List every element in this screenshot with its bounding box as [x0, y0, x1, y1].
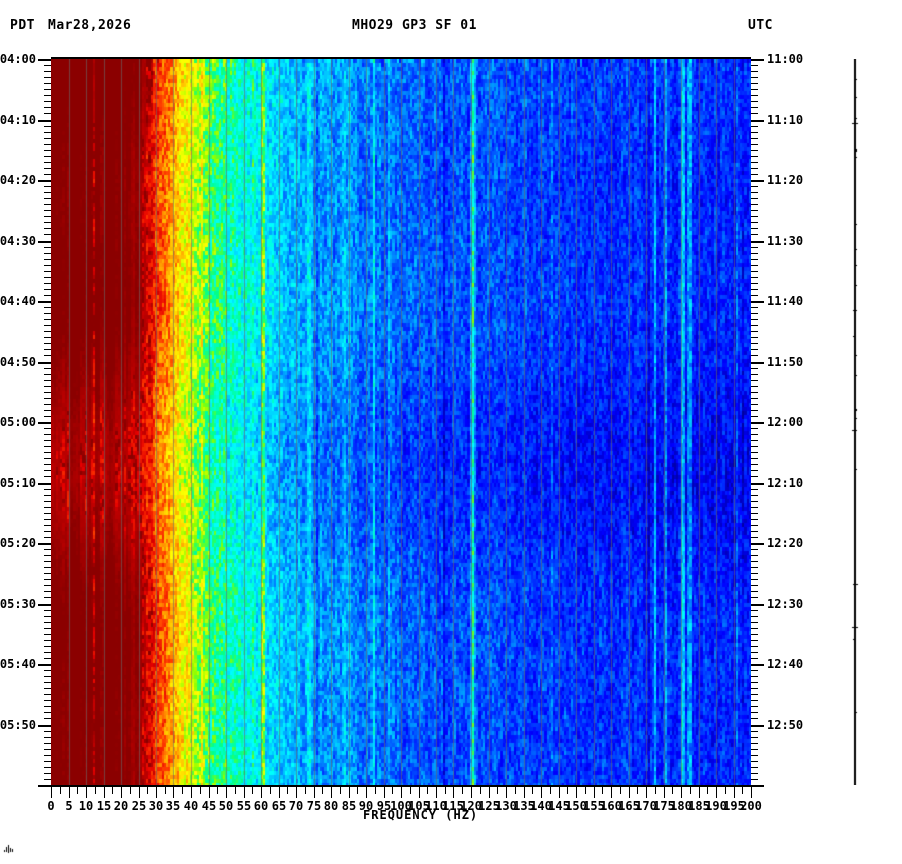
tick-major-local: [38, 483, 51, 485]
tick-minor-local: [44, 476, 51, 477]
tick-minor-utc: [751, 585, 758, 586]
tick-minor-frequency: [410, 787, 411, 794]
time-label-utc: 12:30: [767, 599, 803, 609]
tick-minor-utc: [751, 537, 758, 538]
tick-minor-utc: [751, 247, 758, 248]
tick-minor-frequency: [200, 787, 201, 794]
tick-minor-local: [44, 156, 51, 157]
tick-minor-utc: [751, 688, 758, 689]
tick-minor-local: [44, 761, 51, 762]
tick-minor-frequency: [270, 787, 271, 794]
tick-minor-utc: [751, 712, 758, 713]
tick-major-utc: [751, 180, 764, 182]
corner-waveform-glyph: [3, 843, 23, 855]
tick-minor-local: [44, 349, 51, 350]
tick-minor-local: [44, 107, 51, 108]
tick-minor-local: [44, 83, 51, 84]
tick-minor-local: [44, 694, 51, 695]
time-label-utc: 11:20: [767, 175, 803, 185]
tick-major-frequency: [681, 787, 682, 798]
tick-major-frequency: [489, 787, 490, 798]
tick-major-local: [38, 422, 51, 424]
tick-minor-utc: [751, 138, 758, 139]
time-label-local: 05:10: [0, 478, 36, 488]
tick-major-frequency: [471, 787, 472, 798]
frequency-label: 200: [740, 799, 762, 813]
tick-minor-local: [44, 198, 51, 199]
tick-minor-local: [44, 168, 51, 169]
tick-major-local: [38, 120, 51, 122]
frequency-label: 20: [114, 799, 128, 813]
tick-major-frequency: [594, 787, 595, 798]
tick-minor-utc: [751, 755, 758, 756]
tick-minor-utc: [751, 349, 758, 350]
tick-minor-local: [44, 658, 51, 659]
time-label-utc: 12:20: [767, 538, 803, 548]
tick-major-frequency: [751, 787, 752, 798]
frequency-label: 80: [324, 799, 338, 813]
tick-minor-local: [44, 507, 51, 508]
tick-major-frequency: [86, 787, 87, 798]
tick-minor-frequency: [655, 787, 656, 794]
waveform-trace-canvas: [838, 59, 872, 785]
tick-minor-local: [44, 452, 51, 453]
frequency-label: 60: [254, 799, 268, 813]
frequency-label: 5: [65, 799, 72, 813]
tick-minor-frequency: [445, 787, 446, 794]
tick-minor-utc: [751, 731, 758, 732]
tick-major-frequency: [734, 787, 735, 798]
tick-minor-utc: [751, 234, 758, 235]
tick-minor-utc: [751, 513, 758, 514]
header-timezone-utc: UTC: [748, 18, 773, 34]
tick-minor-local: [44, 289, 51, 290]
tick-minor-local: [44, 398, 51, 399]
tick-minor-local: [44, 277, 51, 278]
spectrogram-plot: [51, 59, 751, 785]
tick-minor-utc: [751, 464, 758, 465]
tick-minor-local: [44, 65, 51, 66]
tick-minor-local: [44, 101, 51, 102]
tick-major-frequency: [436, 787, 437, 798]
tick-minor-utc: [751, 89, 758, 90]
tick-major-utc: [751, 120, 764, 122]
tick-minor-local: [44, 150, 51, 151]
tick-minor-frequency: [497, 787, 498, 794]
tick-minor-utc: [751, 156, 758, 157]
tick-minor-frequency: [375, 787, 376, 794]
tick-minor-local: [44, 186, 51, 187]
tick-minor-utc: [751, 634, 758, 635]
tick-minor-local: [44, 392, 51, 393]
tick-minor-local: [44, 216, 51, 217]
tick-minor-utc: [751, 83, 758, 84]
tick-major-frequency: [314, 787, 315, 798]
tick-minor-local: [44, 386, 51, 387]
tick-minor-utc: [751, 440, 758, 441]
time-label-local: 05:20: [0, 538, 36, 548]
tick-minor-local: [44, 374, 51, 375]
tick-major-frequency: [366, 787, 367, 798]
tick-minor-local: [44, 331, 51, 332]
tick-minor-utc: [751, 289, 758, 290]
tick-major-local: [38, 241, 51, 243]
tick-minor-utc: [751, 434, 758, 435]
tick-minor-local: [44, 416, 51, 417]
tick-minor-local: [44, 144, 51, 145]
tick-minor-utc: [751, 150, 758, 151]
tick-minor-utc: [751, 259, 758, 260]
tick-minor-local: [44, 640, 51, 641]
tick-minor-frequency: [550, 787, 551, 794]
tick-minor-frequency: [340, 787, 341, 794]
tick-minor-local: [44, 343, 51, 344]
tick-minor-utc: [751, 501, 758, 502]
time-label-local: 04:30: [0, 236, 36, 246]
tick-minor-local: [44, 313, 51, 314]
tick-minor-utc: [751, 446, 758, 447]
tick-minor-local: [44, 549, 51, 550]
tick-minor-utc: [751, 374, 758, 375]
tick-minor-frequency: [620, 787, 621, 794]
tick-minor-local: [44, 634, 51, 635]
tick-major-frequency: [173, 787, 174, 798]
tick-minor-utc: [751, 452, 758, 453]
tick-minor-local: [44, 537, 51, 538]
tick-minor-local: [44, 718, 51, 719]
time-label-local: 04:40: [0, 296, 36, 306]
tick-minor-utc: [751, 749, 758, 750]
tick-minor-utc: [751, 555, 758, 556]
tick-minor-local: [44, 591, 51, 592]
header-timezone-local: PDT: [10, 18, 35, 34]
tick-minor-local: [44, 579, 51, 580]
tick-minor-utc: [751, 325, 758, 326]
frequency-label: 10: [79, 799, 93, 813]
tick-minor-utc: [751, 682, 758, 683]
tick-minor-utc: [751, 380, 758, 381]
time-label-utc: 11:40: [767, 296, 803, 306]
tick-minor-utc: [751, 519, 758, 520]
tick-minor-frequency: [77, 787, 78, 794]
tick-minor-local: [44, 700, 51, 701]
tick-minor-local: [44, 767, 51, 768]
tick-minor-utc: [751, 198, 758, 199]
tick-major-frequency: [384, 787, 385, 798]
tick-minor-utc: [751, 700, 758, 701]
tick-major-frequency: [419, 787, 420, 798]
tick-minor-frequency: [690, 787, 691, 794]
tick-minor-frequency: [480, 787, 481, 794]
tick-minor-frequency: [427, 787, 428, 794]
tick-minor-utc: [751, 694, 758, 695]
tick-minor-local: [44, 234, 51, 235]
tick-minor-utc: [751, 404, 758, 405]
tick-minor-utc: [751, 192, 758, 193]
tick-minor-utc: [751, 71, 758, 72]
time-label-local: 05:30: [0, 599, 36, 609]
tick-minor-utc: [751, 210, 758, 211]
tick-minor-local: [44, 682, 51, 683]
tick-minor-local: [44, 404, 51, 405]
tick-major-frequency: [139, 787, 140, 798]
tick-minor-utc: [751, 65, 758, 66]
tick-major-utc: [751, 483, 764, 485]
tick-minor-utc: [751, 313, 758, 314]
tick-minor-frequency: [672, 787, 673, 794]
tick-minor-utc: [751, 398, 758, 399]
tick-major-utc: [751, 664, 764, 666]
tick-minor-local: [44, 228, 51, 229]
tick-minor-utc: [751, 283, 758, 284]
tick-major-utc: [751, 785, 764, 787]
tick-minor-utc: [751, 476, 758, 477]
tick-minor-utc: [751, 767, 758, 768]
tick-minor-utc: [751, 567, 758, 568]
tick-minor-utc: [751, 489, 758, 490]
frequency-label: 45: [202, 799, 216, 813]
tick-minor-utc: [751, 95, 758, 96]
tick-minor-frequency: [602, 787, 603, 794]
tick-minor-local: [44, 428, 51, 429]
tick-major-frequency: [506, 787, 507, 798]
tick-minor-utc: [751, 271, 758, 272]
tick-minor-local: [44, 628, 51, 629]
tick-minor-local: [44, 670, 51, 671]
tick-minor-utc: [751, 531, 758, 532]
tick-major-frequency: [244, 787, 245, 798]
tick-major-frequency: [716, 787, 717, 798]
tick-minor-frequency: [147, 787, 148, 794]
tick-minor-local: [44, 192, 51, 193]
tick-major-frequency: [279, 787, 280, 798]
tick-major-local: [38, 664, 51, 666]
tick-minor-local: [44, 458, 51, 459]
frequency-axis-title: FREQUENCY (HZ): [363, 808, 478, 822]
frequency-label: 25: [132, 799, 146, 813]
tick-major-frequency: [191, 787, 192, 798]
tick-major-frequency: [209, 787, 210, 798]
tick-minor-utc: [751, 101, 758, 102]
tick-minor-utc: [751, 525, 758, 526]
tick-minor-local: [44, 773, 51, 774]
tick-minor-local: [44, 440, 51, 441]
tick-minor-utc: [751, 676, 758, 677]
tick-minor-utc: [751, 658, 758, 659]
tick-minor-local: [44, 706, 51, 707]
tick-minor-utc: [751, 622, 758, 623]
tick-minor-frequency: [532, 787, 533, 794]
tick-minor-utc: [751, 216, 758, 217]
spectrogram-page: PDT Mar28,2026 MHO29 GP3 SF 01 UTC 04:00…: [0, 0, 902, 864]
tick-minor-utc: [751, 718, 758, 719]
tick-minor-frequency: [742, 787, 743, 794]
tick-minor-local: [44, 319, 51, 320]
tick-major-frequency: [261, 787, 262, 798]
tick-minor-local: [44, 555, 51, 556]
tick-minor-utc: [751, 386, 758, 387]
tick-minor-utc: [751, 174, 758, 175]
tick-minor-local: [44, 204, 51, 205]
tick-minor-utc: [751, 646, 758, 647]
tick-minor-local: [44, 525, 51, 526]
tick-minor-frequency: [567, 787, 568, 794]
tick-minor-utc: [751, 307, 758, 308]
tick-minor-local: [44, 410, 51, 411]
tick-minor-utc: [751, 204, 758, 205]
time-label-local: 04:10: [0, 115, 36, 125]
time-label-utc: 12:50: [767, 720, 803, 730]
tick-minor-frequency: [725, 787, 726, 794]
tick-minor-utc: [751, 410, 758, 411]
tick-minor-local: [44, 712, 51, 713]
tick-minor-utc: [751, 779, 758, 780]
time-label-local: 05:00: [0, 417, 36, 427]
tick-minor-utc: [751, 343, 758, 344]
tick-minor-local: [44, 337, 51, 338]
tick-major-utc: [751, 362, 764, 364]
tick-major-frequency: [226, 787, 227, 798]
header-date: Mar28,2026: [48, 18, 131, 34]
tick-minor-local: [44, 731, 51, 732]
tick-major-utc: [751, 725, 764, 727]
tick-minor-frequency: [165, 787, 166, 794]
frequency-label: 50: [219, 799, 233, 813]
tick-major-frequency: [559, 787, 560, 798]
tick-minor-frequency: [130, 787, 131, 794]
time-label-local: 04:00: [0, 54, 36, 64]
tick-minor-local: [44, 597, 51, 598]
frequency-label: 65: [272, 799, 286, 813]
tick-minor-local: [44, 259, 51, 260]
tick-major-local: [38, 59, 51, 61]
tick-minor-frequency: [585, 787, 586, 794]
tick-minor-local: [44, 470, 51, 471]
tick-minor-local: [44, 271, 51, 272]
tick-minor-utc: [751, 228, 758, 229]
tick-minor-utc: [751, 610, 758, 611]
tick-minor-frequency: [252, 787, 253, 794]
frequency-label: 70: [289, 799, 303, 813]
tick-minor-utc: [751, 368, 758, 369]
tick-minor-utc: [751, 561, 758, 562]
time-label-utc: 12:00: [767, 417, 803, 427]
tick-minor-utc: [751, 670, 758, 671]
tick-minor-utc: [751, 579, 758, 580]
tick-minor-utc: [751, 222, 758, 223]
tick-major-frequency: [646, 787, 647, 798]
header-station-code: MHO29 GP3 SF 01: [352, 18, 477, 34]
tick-minor-local: [44, 307, 51, 308]
tick-minor-local: [44, 132, 51, 133]
tick-minor-local: [44, 610, 51, 611]
tick-minor-utc: [751, 416, 758, 417]
tick-minor-local: [44, 519, 51, 520]
tick-minor-utc: [751, 113, 758, 114]
waveform-trace-panel: [838, 59, 872, 785]
tick-minor-local: [44, 573, 51, 574]
tick-minor-utc: [751, 277, 758, 278]
tick-major-local: [38, 543, 51, 545]
tick-minor-local: [44, 295, 51, 296]
tick-minor-local: [44, 446, 51, 447]
tick-major-utc: [751, 301, 764, 303]
tick-minor-local: [44, 561, 51, 562]
time-label-local: 05:50: [0, 720, 36, 730]
tick-minor-utc: [751, 743, 758, 744]
tick-minor-local: [44, 253, 51, 254]
tick-minor-frequency: [217, 787, 218, 794]
frequency-label: 0: [47, 799, 54, 813]
tick-minor-utc: [751, 77, 758, 78]
time-label-utc: 11:30: [767, 236, 803, 246]
tick-minor-local: [44, 585, 51, 586]
tick-major-utc: [751, 241, 764, 243]
tick-major-frequency: [296, 787, 297, 798]
tick-major-frequency: [104, 787, 105, 798]
time-label-utc: 12:10: [767, 478, 803, 488]
time-label-local: 04:20: [0, 175, 36, 185]
tick-minor-local: [44, 567, 51, 568]
tick-minor-utc: [751, 168, 758, 169]
time-label-utc: 12:40: [767, 659, 803, 669]
tick-minor-utc: [751, 591, 758, 592]
tick-minor-utc: [751, 495, 758, 496]
tick-minor-local: [44, 210, 51, 211]
tick-minor-local: [44, 749, 51, 750]
frequency-label: 85: [342, 799, 356, 813]
tick-minor-frequency: [182, 787, 183, 794]
tick-minor-utc: [751, 640, 758, 641]
frequency-label: 75: [307, 799, 321, 813]
tick-minor-utc: [751, 253, 758, 254]
tick-major-frequency: [331, 787, 332, 798]
tick-major-frequency: [156, 787, 157, 798]
tick-major-local: [38, 362, 51, 364]
tick-minor-local: [44, 743, 51, 744]
tick-major-frequency: [349, 787, 350, 798]
tick-major-frequency: [629, 787, 630, 798]
tick-major-frequency: [699, 787, 700, 798]
tick-minor-local: [44, 495, 51, 496]
tick-minor-utc: [751, 773, 758, 774]
tick-minor-local: [44, 737, 51, 738]
tick-minor-local: [44, 95, 51, 96]
tick-minor-local: [44, 688, 51, 689]
tick-minor-local: [44, 283, 51, 284]
tick-minor-local: [44, 162, 51, 163]
tick-major-utc: [751, 422, 764, 424]
tick-minor-utc: [751, 458, 758, 459]
frequency-label: 55: [237, 799, 251, 813]
tick-minor-frequency: [287, 787, 288, 794]
tick-minor-frequency: [60, 787, 61, 794]
tick-minor-frequency: [515, 787, 516, 794]
tick-minor-local: [44, 174, 51, 175]
tick-minor-utc: [751, 331, 758, 332]
tick-major-frequency: [576, 787, 577, 798]
frequency-label: 15: [97, 799, 111, 813]
frequency-label: 30: [149, 799, 163, 813]
tick-major-utc: [751, 604, 764, 606]
tick-minor-local: [44, 222, 51, 223]
tick-minor-frequency: [357, 787, 358, 794]
tick-minor-utc: [751, 265, 758, 266]
tick-minor-frequency: [322, 787, 323, 794]
tick-minor-local: [44, 325, 51, 326]
tick-minor-local: [44, 531, 51, 532]
tick-minor-local: [44, 501, 51, 502]
